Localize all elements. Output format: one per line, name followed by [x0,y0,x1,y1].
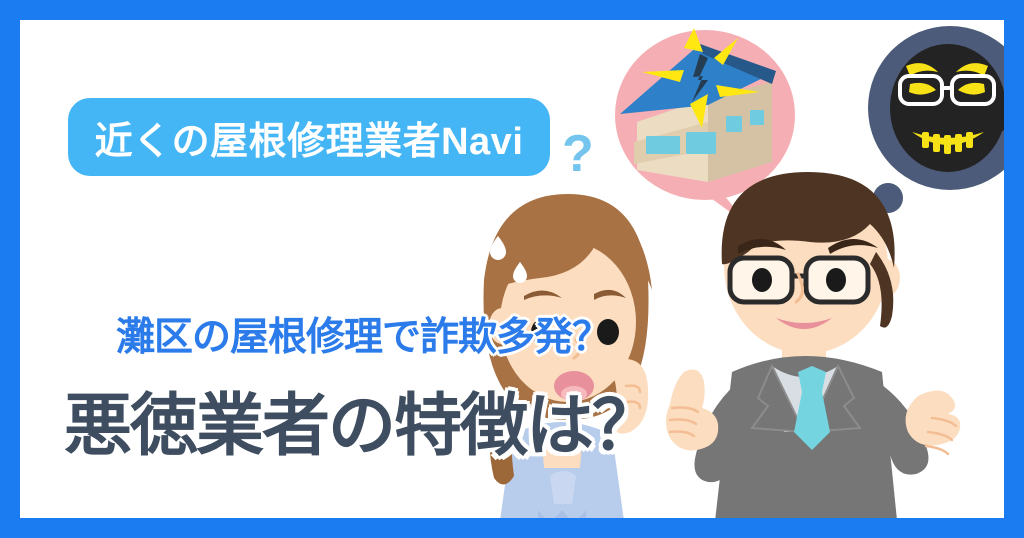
pointing-businessman-illustration [640,160,980,518]
site-name-label: 近くの屋根修理業者Navi [95,110,524,165]
question-mark-icon: ? [562,128,594,180]
site-name-badge[interactable]: 近くの屋根修理業者Navi [68,98,550,176]
banner-canvas: 近くの屋根修理業者Navi ? 灘区の屋根修理で詐欺多発？ 悪徳業者の特徴は？ [20,20,1004,518]
headline-subtitle: 灘区の屋根修理で詐欺多発？ [116,306,610,362]
banner-frame: 近くの屋根修理業者Navi ? 灘区の屋根修理で詐欺多発？ 悪徳業者の特徴は？ [0,0,1024,538]
headline-title: 悪徳業者の特徴は？ [64,370,658,469]
